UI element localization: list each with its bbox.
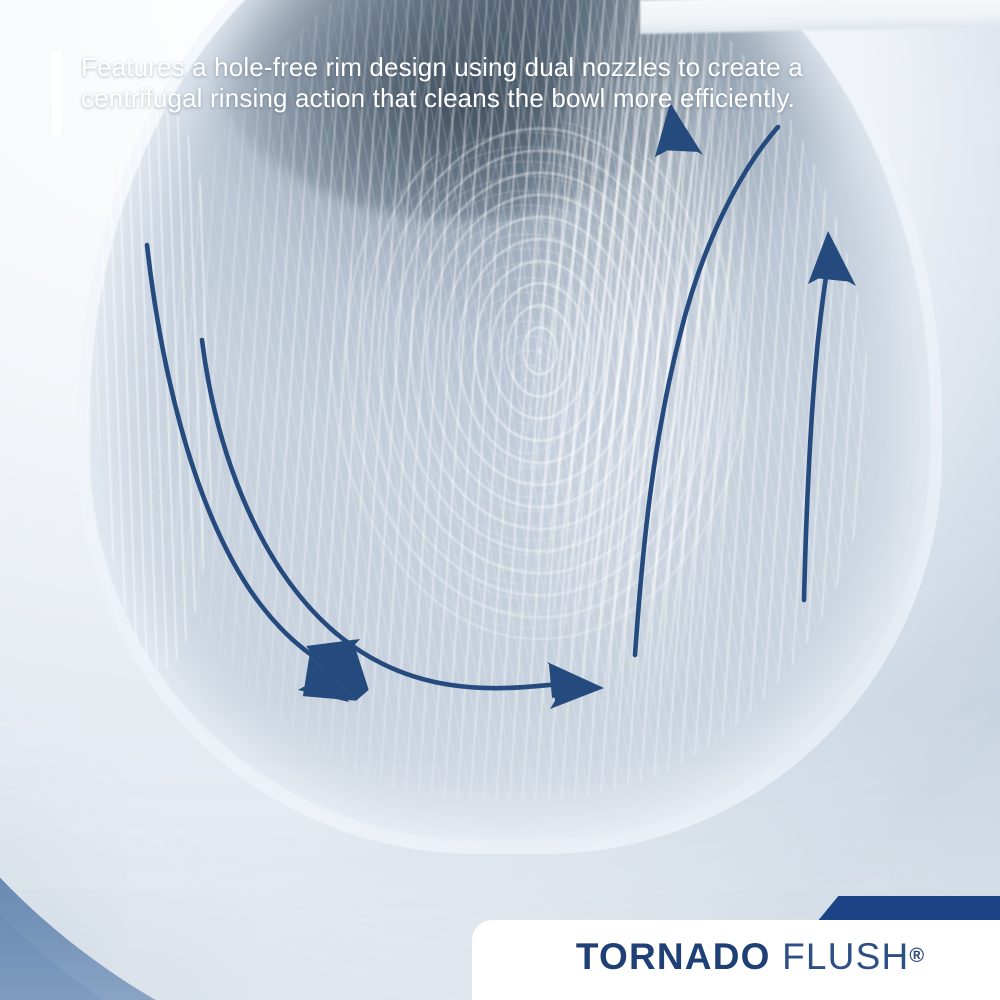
accent-bar bbox=[52, 52, 61, 136]
logo-card: TORNADO FLUSH® bbox=[472, 920, 1000, 1000]
headline-block: Features a hole-free rim design using du… bbox=[52, 52, 821, 136]
toilet-bowl-photo bbox=[0, 0, 1000, 1000]
logo-word-tornado: TORNADO bbox=[576, 936, 771, 977]
logo-word-flush: FLUSH bbox=[782, 936, 909, 977]
registered-trademark-icon: ® bbox=[909, 945, 924, 967]
tornado-flush-logo: TORNADO FLUSH® bbox=[576, 938, 924, 975]
headline-text: Features a hole-free rim design using du… bbox=[81, 52, 821, 114]
promo-graphic: Features a hole-free rim design using du… bbox=[0, 0, 1000, 1000]
